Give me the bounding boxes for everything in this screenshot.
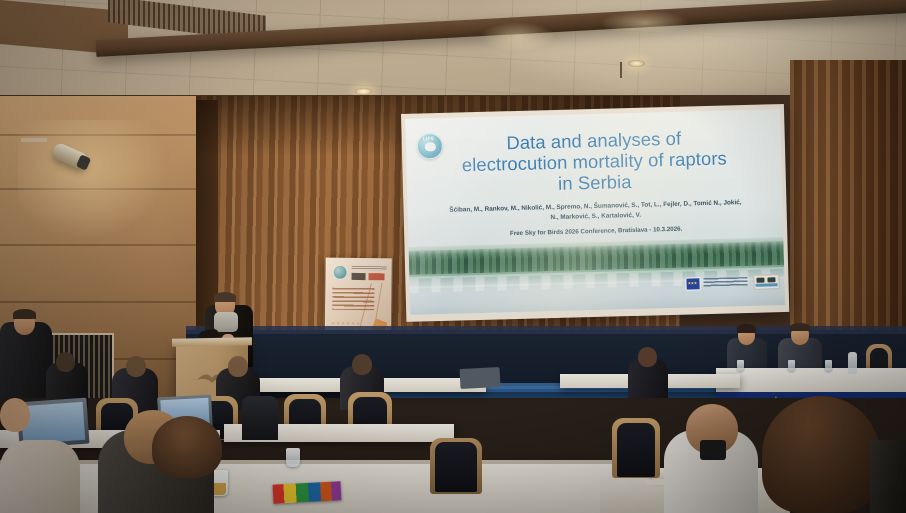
banner-stand-foot xyxy=(21,138,47,142)
foreground-person-left-torso xyxy=(0,440,80,513)
projection-screen: LIFE Data and analyses of electrocution … xyxy=(401,104,789,322)
water-glass xyxy=(825,360,832,371)
lectern-top-surface xyxy=(172,337,252,346)
ceiling-glow-1 xyxy=(480,22,556,52)
audience-chair-front-2-back xyxy=(435,442,477,492)
foreground-person-right-torso xyxy=(870,440,906,513)
lanyard xyxy=(700,440,726,460)
audience-head xyxy=(228,356,248,377)
water-bottle xyxy=(848,352,857,374)
spotlight-icon xyxy=(628,60,645,67)
colour-printed-handout[interactable] xyxy=(273,481,342,504)
laptop[interactable] xyxy=(460,367,501,389)
foreground-curly-hair-head xyxy=(762,396,880,513)
presenter-scarf xyxy=(214,312,238,332)
slide-glare xyxy=(405,109,785,315)
audience-head xyxy=(126,356,146,377)
standing-man-hair xyxy=(13,309,36,319)
water-glass xyxy=(788,360,795,371)
head-table xyxy=(716,368,906,394)
audience-curly-hair-head xyxy=(152,416,222,478)
audience-head xyxy=(56,352,75,372)
laptop-screen[interactable] xyxy=(21,402,85,444)
water-glass xyxy=(737,360,744,371)
ceiling-glow-2 xyxy=(600,10,690,36)
panelist-2-hair xyxy=(790,323,810,331)
presentation-slide: LIFE Data and analyses of electrocution … xyxy=(405,109,785,315)
ceiling-hanger xyxy=(620,62,622,78)
audience-chair-dark xyxy=(242,396,278,440)
presenter-hair xyxy=(214,292,236,302)
audience-head xyxy=(352,354,372,375)
front-table-edge xyxy=(0,460,620,464)
conference-photo-scene: LIFE Data and analyses of electrocution … xyxy=(0,0,906,513)
drinking-glass xyxy=(286,448,300,467)
audience-head xyxy=(638,347,657,367)
audience-chair-front-back xyxy=(617,423,655,477)
spotlight-icon xyxy=(355,88,372,95)
foreground-hand xyxy=(0,398,30,432)
panelist-1-hair xyxy=(737,324,756,333)
